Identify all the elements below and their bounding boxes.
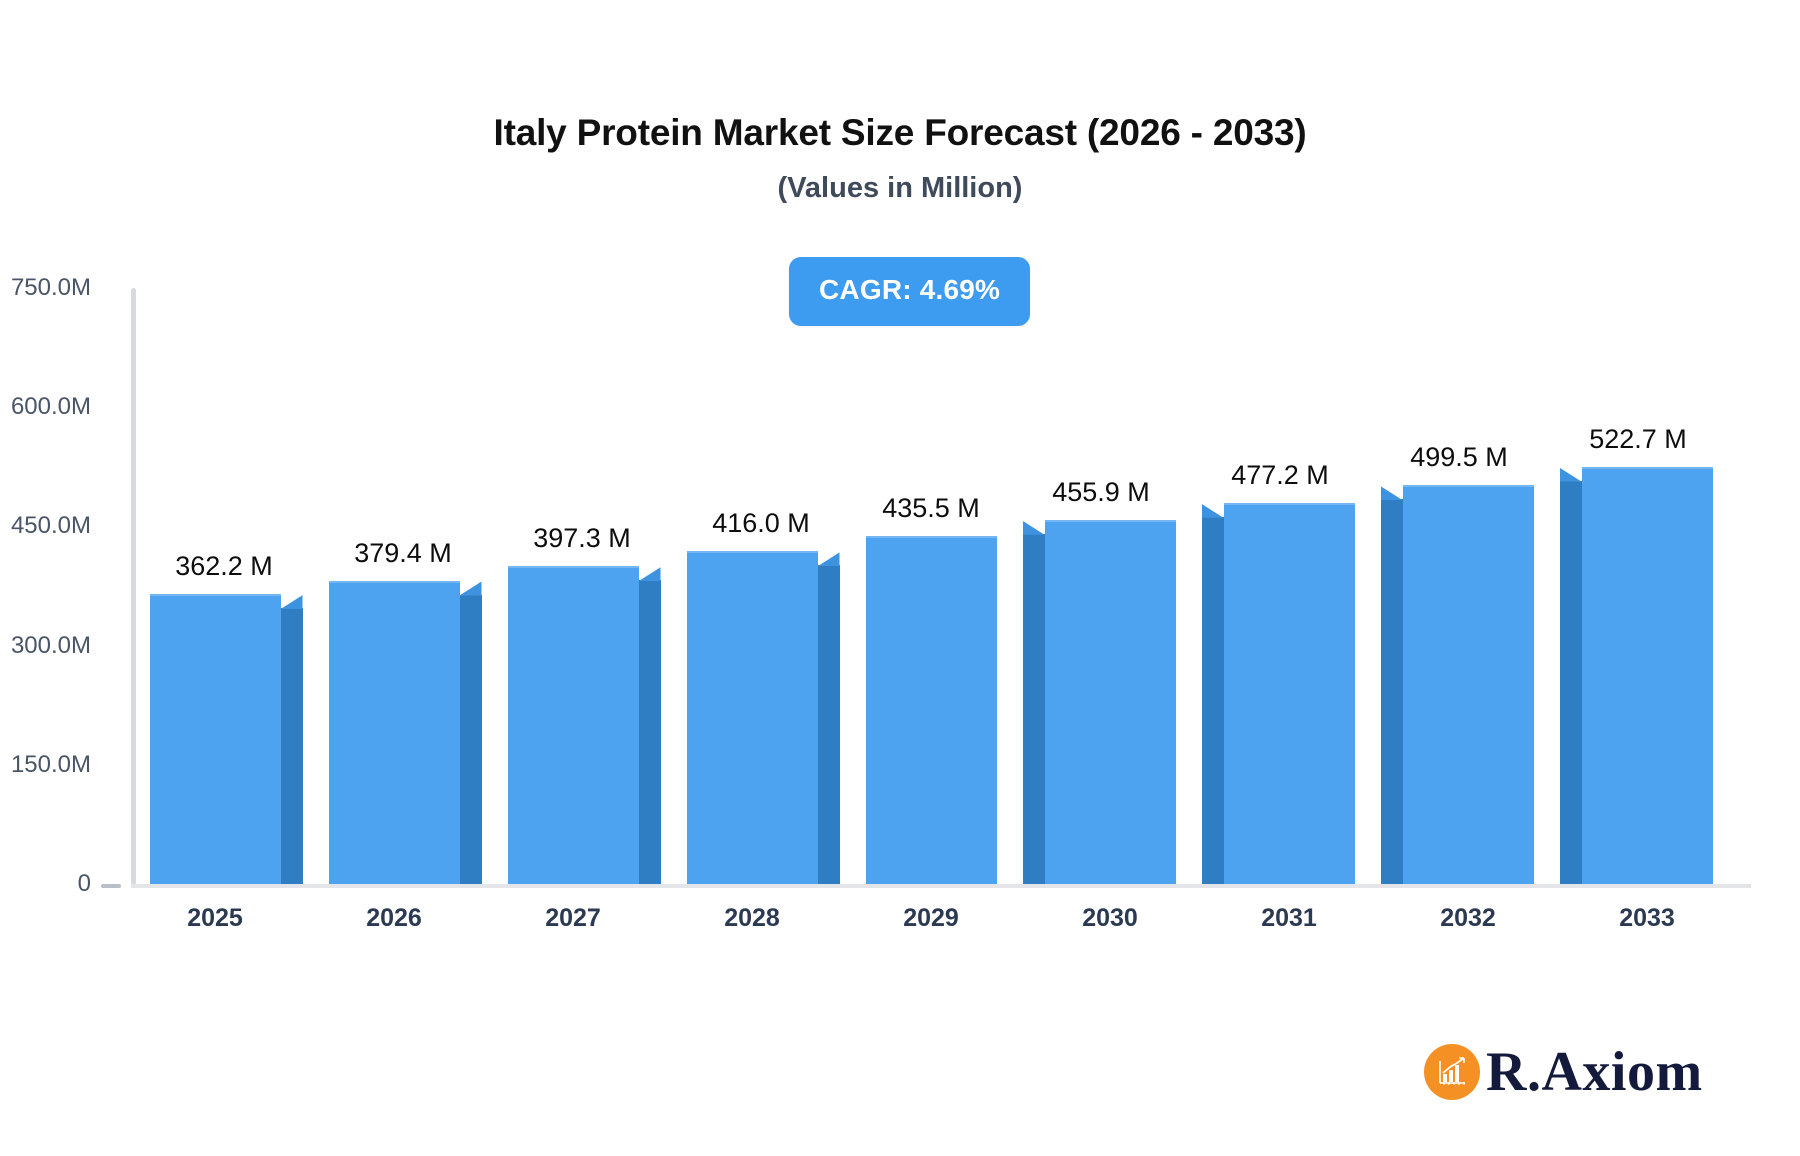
bar-top-face [460, 582, 482, 596]
bar-side-face [1023, 534, 1045, 884]
bar-top-face [1381, 486, 1403, 500]
x-axis-tick-label: 2025 [115, 904, 315, 933]
x-axis-tick-label: 2032 [1368, 904, 1568, 933]
x-axis-tick-label: 2027 [473, 904, 673, 933]
y-axis-tick-label: 600.0M [0, 393, 91, 421]
bar-2026[interactable]: 379.4 M [329, 583, 460, 884]
bar-value-label: 362.2 M [159, 551, 290, 582]
bar-value-label: 477.2 M [1215, 460, 1346, 491]
bar-value-label: 379.4 M [338, 538, 469, 569]
bar-side-face [1381, 499, 1403, 884]
bar-2030[interactable]: 455.9 M [1045, 522, 1176, 884]
bar-top-face [639, 567, 661, 581]
bar-side-face [1202, 517, 1224, 884]
bar-side-face [818, 565, 840, 884]
bar-value-label: 416.0 M [696, 508, 827, 539]
y-axis-tick-label: 750.0M [0, 274, 91, 302]
x-axis-tick-label: 2031 [1189, 904, 1389, 933]
bar-front-face [1403, 485, 1534, 884]
y-axis-tick-label: 150.0M [0, 751, 91, 779]
bar-2029[interactable]: 435.5 M [866, 538, 997, 884]
y-axis-tick-label: 450.0M [0, 512, 91, 540]
bar-side-face [1560, 481, 1582, 884]
y-axis-tick-label: 0 [0, 870, 91, 898]
bar-value-label: 499.5 M [1394, 442, 1525, 473]
x-axis-tick-label: 2029 [831, 904, 1031, 933]
bar-value-label: 522.7 M [1573, 424, 1704, 455]
x-axis-tick-label: 2026 [294, 904, 494, 933]
x-axis-tick-label: 2030 [1010, 904, 1210, 933]
bar-front-face [150, 594, 281, 884]
bar-front-face [687, 551, 818, 884]
bar-chart-growth-icon [1424, 1044, 1480, 1100]
logo-text: R.Axiom [1486, 1044, 1703, 1100]
y-axis-tick-label: 300.0M [0, 632, 91, 660]
bar-front-face [866, 536, 997, 884]
y-axis-line [131, 288, 136, 885]
bar-front-face [329, 581, 460, 884]
bar-value-label: 455.9 M [1036, 477, 1167, 508]
x-axis-line [131, 884, 1751, 888]
bar-top-face [281, 595, 303, 609]
bar-front-face [1582, 467, 1713, 884]
bar-top-face [818, 552, 840, 566]
x-axis-tick-label: 2028 [652, 904, 852, 933]
bar-front-face [1045, 520, 1176, 884]
bar-side-face [639, 580, 661, 884]
brand-logo: R.Axiom [1424, 1044, 1703, 1100]
bar-2031[interactable]: 477.2 M [1224, 505, 1355, 884]
bar-value-label: 397.3 M [517, 523, 648, 554]
x-axis-tick-label: 2033 [1547, 904, 1747, 933]
bar-side-face [281, 608, 303, 884]
bar-side-face [460, 595, 482, 884]
bar-front-face [508, 566, 639, 884]
bar-2033[interactable]: 522.7 M [1582, 469, 1713, 884]
y-axis-zero-tick [101, 884, 121, 888]
bar-2032[interactable]: 499.5 M [1403, 487, 1534, 884]
bar-top-face [1023, 521, 1045, 535]
bar-top-face [1560, 468, 1582, 482]
plot-area: 0150.0M300.0M450.0M600.0M750.0M362.2 M20… [0, 0, 1800, 1156]
bar-front-face [1224, 503, 1355, 884]
bar-2027[interactable]: 397.3 M [508, 568, 639, 884]
bar-value-label: 435.5 M [866, 493, 997, 524]
chart-page: Italy Protein Market Size Forecast (2026… [0, 0, 1800, 1156]
bar-2028[interactable]: 416.0 M [687, 553, 818, 884]
bar-2025[interactable]: 362.2 M [150, 596, 281, 884]
bar-top-face [1202, 504, 1224, 518]
